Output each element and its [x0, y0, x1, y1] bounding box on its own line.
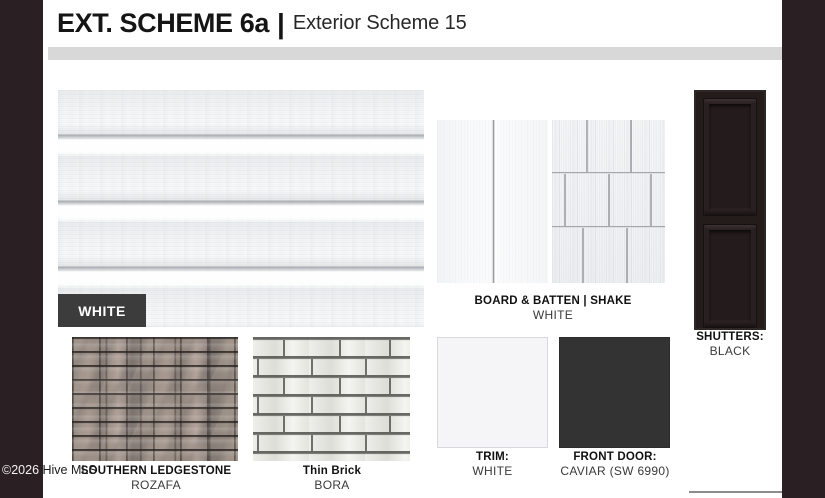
siding-sample-card[interactable]: WHITE [58, 90, 424, 327]
board-batten-shake-caption-sub: WHITE [437, 308, 669, 323]
trim-color-swatch[interactable] [437, 337, 548, 448]
stone-caption-sub: ROZAFA [45, 478, 267, 493]
front-door-caption-title: FRONT DOOR: [527, 450, 703, 464]
front-door-caption: FRONT DOOR: CAVIAR (SW 6990) [527, 450, 703, 479]
shutters-caption: SHUTTERS: BLACK [674, 330, 782, 359]
shutters-caption-sub: BLACK [674, 344, 782, 359]
board-batten-texture [437, 120, 548, 283]
brick-caption: Thin Brick BORA [259, 464, 405, 493]
title-divider: | [277, 10, 285, 38]
shutters-caption-title: SHUTTERS: [674, 330, 782, 344]
watermark-copyright: ©2026 [2, 463, 43, 477]
letterbox-left [0, 0, 43, 498]
front-door-color-swatch[interactable] [559, 337, 670, 448]
shutter-panel-bottom [703, 224, 757, 328]
scheme-sheet: EXT. SCHEME 6a | Exterior Scheme 15 WHIT… [43, 0, 782, 498]
shutter-sample-card[interactable] [694, 90, 766, 330]
letterbox-right [782, 0, 825, 498]
brick-caption-sub: BORA [259, 478, 405, 493]
watermark: ©2026 Hive MLS [2, 463, 97, 477]
front-door-caption-sub: CAVIAR (SW 6990) [527, 464, 703, 479]
bottom-divider-rule [689, 491, 782, 493]
brick-sample-card[interactable] [253, 337, 410, 461]
scheme-board: EXT. SCHEME 6a | Exterior Scheme 15 WHIT… [0, 0, 825, 498]
board-batten-shake-card[interactable] [437, 120, 669, 283]
board-batten-shake-caption-title: BOARD & BATTEN | SHAKE [437, 294, 669, 308]
page-header: EXT. SCHEME 6a | Exterior Scheme 15 [43, 0, 782, 47]
page-subtitle: Exterior Scheme 15 [293, 12, 467, 35]
shake-texture [552, 120, 665, 283]
board-batten-shake-caption: BOARD & BATTEN | SHAKE WHITE [437, 294, 669, 323]
watermark-brand: Hive MLS [43, 463, 97, 477]
lap-siding-texture [58, 90, 424, 327]
siding-color-badge: WHITE [58, 294, 146, 327]
header-divider-bar [48, 47, 782, 60]
page-title: EXT. SCHEME 6a [57, 8, 269, 39]
stone-sample-card[interactable] [72, 337, 238, 461]
brick-caption-title: Thin Brick [259, 464, 405, 478]
shutter-panel-top [703, 98, 757, 216]
thin-brick-texture [253, 337, 410, 461]
ledgestone-texture [72, 337, 238, 461]
